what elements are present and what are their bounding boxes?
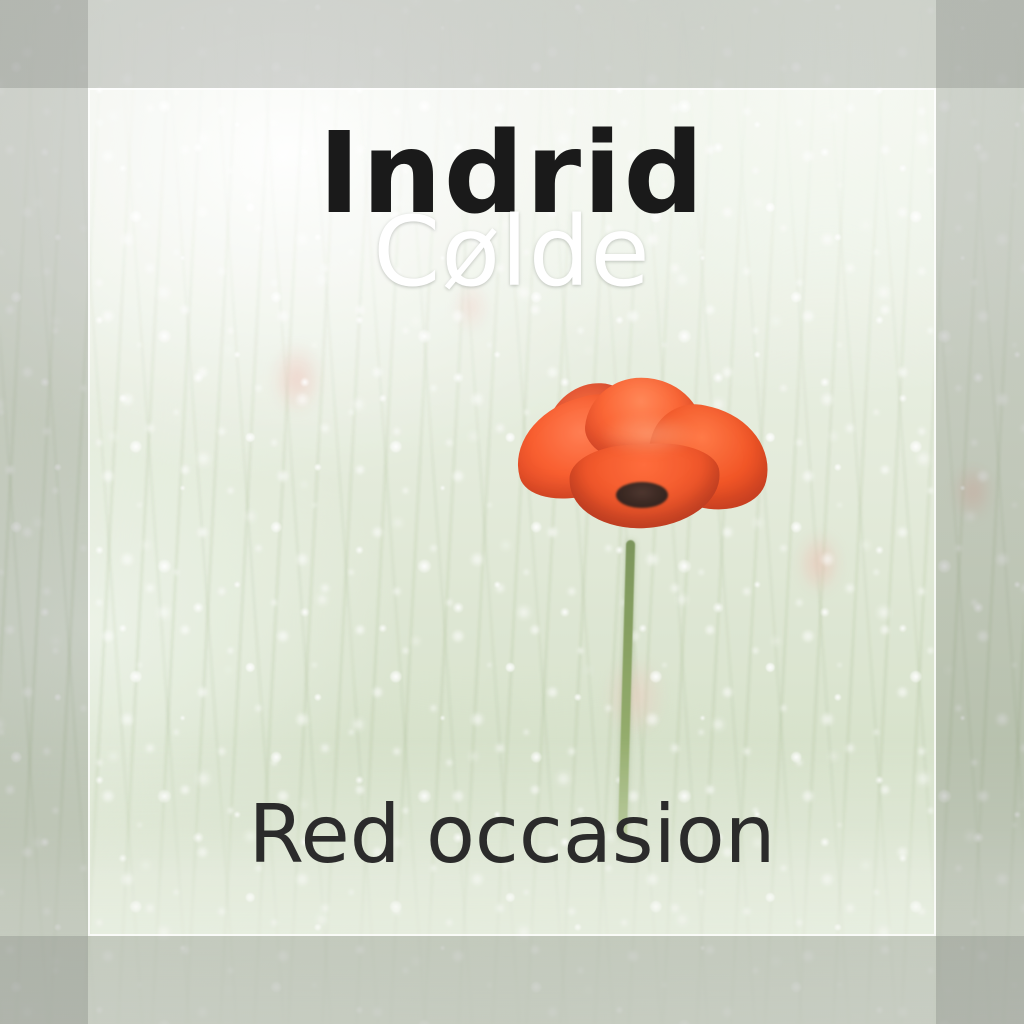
poppy-center: [616, 482, 668, 508]
album-cover: Indrid Cølde Red occasion: [0, 0, 1024, 1024]
background-photo: [0, 0, 1024, 1024]
poppy-highlight: [600, 414, 696, 456]
foreground-blur-band: [0, 737, 1024, 1024]
red-poppy-flower: [508, 378, 778, 578]
